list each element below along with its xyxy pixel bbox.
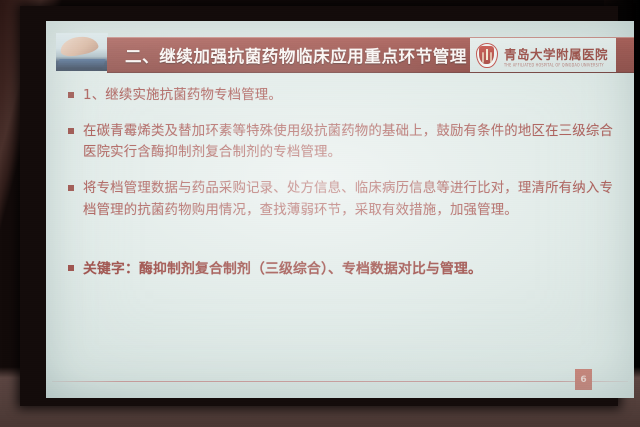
square-bullet-icon [68,265,74,271]
list-item: 将专档管理数据与药品采购记录、处方信息、临床病历信息等进行比对，理清所有纳入专档… [68,178,620,221]
list-item-text: 1、继续实施抗菌药物专档管理。 [83,85,282,107]
keyword-text: 关键字：酶抑制剂复合制剂（三级综合）、专档数据对比与管理。 [83,258,482,280]
keyword-list-item: 关键字：酶抑制剂复合制剂（三级综合）、专档数据对比与管理。 [68,258,620,280]
slide-surface: 二、继续加强抗菌药物临床应用重点环节管理 青岛大学附属医院 THE AFFILI… [46,21,634,398]
list-item: 在碳青霉烯类及替加环素等特殊使用级抗菌药物的基础上，鼓励有条件的地区在三级综合医… [68,121,620,164]
hands-on-laptop-photo-icon [56,33,108,71]
square-bullet-icon [68,92,74,98]
projection-screen-frame: 二、继续加强抗菌药物临床应用重点环节管理 青岛大学附属医院 THE AFFILI… [20,6,618,406]
page-title: 二、继续加强抗菌药物临床应用重点环节管理 [125,43,467,67]
hospital-logo: 青岛大学附属医院 THE AFFILIATED HOSPITAL OF QING… [470,38,616,72]
square-bullet-icon [68,128,74,134]
page-number-badge: 6 [575,369,592,390]
list-item: 1、继续实施抗菌药物专档管理。 [68,85,620,107]
university-hospital-shield-icon [476,43,498,68]
slide-title-row: 二、继续加强抗菌药物临床应用重点环节管理 青岛大学附属医院 THE AFFILI… [46,37,634,71]
hospital-name-en: THE AFFILIATED HOSPITAL OF QINGDAO UNIVE… [504,62,608,67]
slide-body: 1、继续实施抗菌药物专档管理。 在碳青霉烯类及替加环素等特殊使用级抗菌药物的基础… [68,85,620,294]
footer-divider [52,381,628,382]
list-item-text: 将专档管理数据与药品采购记录、处方信息、临床病历信息等进行比对，理清所有纳入专档… [83,178,620,221]
title-banner: 二、继续加强抗菌药物临床应用重点环节管理 青岛大学附属医院 THE AFFILI… [107,37,634,73]
square-bullet-icon [68,185,74,191]
hospital-name-cn: 青岛大学附属医院 [504,47,608,62]
list-item-text: 在碳青霉烯类及替加环素等特殊使用级抗菌药物的基础上，鼓励有条件的地区在三级综合医… [83,121,620,164]
projected-slide-photograph: 二、继续加强抗菌药物临床应用重点环节管理 青岛大学附属医院 THE AFFILI… [0,0,640,427]
